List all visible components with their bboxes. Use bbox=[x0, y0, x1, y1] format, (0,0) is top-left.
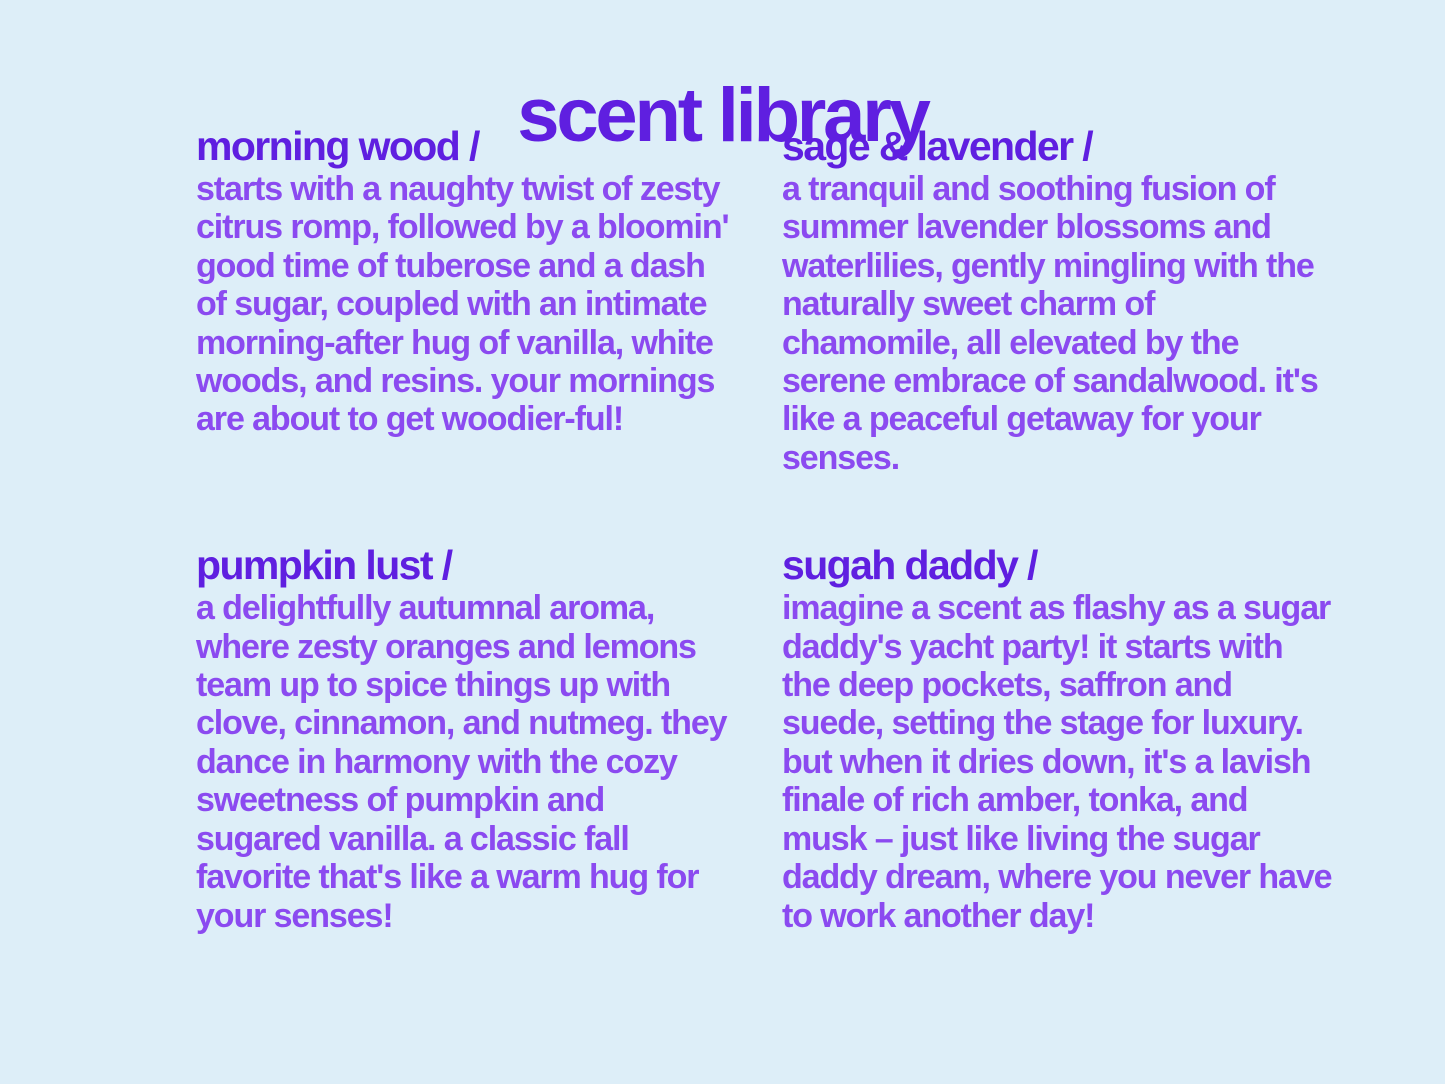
scent-description: imagine a scent as flashy as a sugar dad… bbox=[782, 589, 1334, 935]
scent-name: sage & lavender / bbox=[782, 124, 1336, 168]
scent-library-page: scent library morning wood / starts with… bbox=[0, 0, 1445, 1084]
scent-description: a tranquil and soothing fusion of summer… bbox=[782, 170, 1334, 477]
scent-entry-grid: morning wood / starts with a naughty twi… bbox=[196, 124, 1336, 935]
scent-name: pumpkin lust / bbox=[196, 543, 782, 587]
scent-entry-sage-and-lavender: sage & lavender / a tranquil and soothin… bbox=[782, 124, 1336, 477]
scent-entry-sugah-daddy: sugah daddy / imagine a scent as flashy … bbox=[782, 543, 1336, 935]
scent-name: sugah daddy / bbox=[782, 543, 1336, 587]
scent-name: morning wood / bbox=[196, 124, 782, 168]
scent-entry-pumpkin-lust: pumpkin lust / a delightfully autumnal a… bbox=[196, 543, 782, 935]
scent-entry-morning-wood: morning wood / starts with a naughty twi… bbox=[196, 124, 782, 439]
scent-description: starts with a naughty twist of zesty cit… bbox=[196, 170, 736, 439]
scent-description: a delightfully autumnal aroma, where zes… bbox=[196, 589, 736, 935]
